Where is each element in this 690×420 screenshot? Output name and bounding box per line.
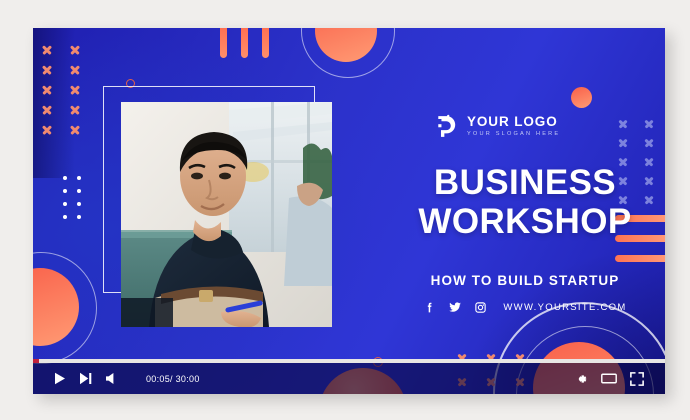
play-icon[interactable]	[54, 372, 66, 385]
subtitle: HOW TO BUILD STARTUP	[385, 273, 665, 288]
brand-logo: YOUR LOGO YOUR SLOGAN HERE	[433, 114, 560, 139]
fullscreen-icon[interactable]	[630, 372, 644, 386]
video-player: YOUR LOGO YOUR SLOGAN HERE BUSINESS WORK…	[33, 28, 665, 394]
instagram-icon[interactable]	[474, 301, 487, 314]
vertical-bar-3	[262, 28, 269, 58]
logo-slogan: YOUR SLOGAN HERE	[467, 132, 560, 138]
horizontal-bar-3	[615, 255, 665, 262]
social-links: WWW.YOURSITE.COM	[385, 300, 665, 314]
logo-name: YOUR LOGO	[467, 115, 560, 129]
vertical-bar-2	[241, 28, 248, 58]
player-controls: 00:05/ 30:00	[33, 363, 665, 394]
gear-icon[interactable]	[574, 372, 588, 386]
page-title: BUSINESS WORKSHOP	[385, 163, 665, 241]
twitter-icon[interactable]	[448, 300, 462, 314]
website-url[interactable]: WWW.YOURSITE.COM	[503, 302, 626, 313]
theater-mode-icon[interactable]	[601, 372, 617, 385]
stylized-d-monogram-icon	[433, 114, 458, 139]
timecode: 00:05/ 30:00	[146, 374, 200, 384]
title-line-2: WORKSHOP	[385, 202, 665, 241]
title-line-1: BUSINESS	[385, 163, 665, 202]
dot-grid-left	[63, 176, 81, 219]
volume-icon[interactable]	[105, 372, 117, 385]
circle-top-right	[571, 87, 592, 108]
hero-photo	[121, 102, 332, 327]
vertical-bar-1	[220, 28, 227, 58]
facebook-icon[interactable]	[423, 301, 436, 314]
x-grid-top-left	[41, 40, 80, 140]
next-track-icon[interactable]	[79, 372, 92, 385]
